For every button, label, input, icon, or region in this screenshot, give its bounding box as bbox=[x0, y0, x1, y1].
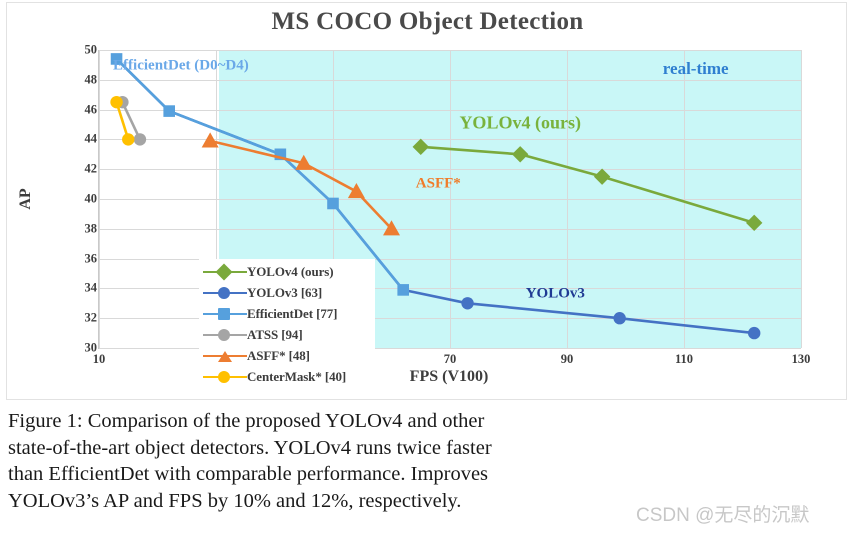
x-axis-label: FPS (V100) bbox=[98, 368, 800, 386]
x-tick-label: 70 bbox=[427, 352, 473, 367]
legend-item-efficientdet-77-[interactable]: EfficientDet [77] bbox=[199, 303, 375, 324]
legend-marker-circle-icon bbox=[203, 328, 247, 342]
legend-label: YOLOv4 (ours) bbox=[247, 264, 333, 280]
y-tick-label: 44 bbox=[57, 132, 97, 147]
plot-area: EfficientDet (D0~D4)real-timeYOLOv4 (our… bbox=[98, 50, 801, 349]
legend-marker-triangle-icon bbox=[203, 349, 247, 363]
data-point-marker bbox=[348, 183, 365, 198]
caption-line: Figure 1: Comparison of the proposed YOL… bbox=[8, 408, 848, 435]
y-axis-label: AP bbox=[17, 188, 35, 209]
legend-label: EfficientDet [77] bbox=[247, 306, 337, 322]
legend-item-asff-48-[interactable]: ASFF* [48] bbox=[199, 345, 375, 366]
figure-container: MS COCO Object Detection EfficientDet (D… bbox=[0, 0, 855, 404]
series-yolov4-ours- bbox=[413, 139, 763, 231]
legend-marker-circle-icon bbox=[203, 286, 247, 300]
y-tick-label: 38 bbox=[57, 221, 97, 236]
data-point-marker bbox=[110, 96, 122, 108]
data-point-marker bbox=[594, 168, 610, 184]
chart-annotation: YOLOv3 bbox=[526, 286, 585, 303]
chart-title: MS COCO Object Detection bbox=[0, 8, 855, 36]
legend-marker-square-icon bbox=[203, 307, 247, 321]
legend-label: ASFF* [48] bbox=[247, 348, 310, 364]
figure-caption: Figure 1: Comparison of the proposed YOL… bbox=[8, 408, 848, 514]
data-point-marker bbox=[327, 198, 339, 210]
x-tick-label: 110 bbox=[661, 352, 707, 367]
chart-annotation: ASFF* bbox=[416, 176, 461, 193]
caption-line: state-of-the-art object detectors. YOLOv… bbox=[8, 435, 848, 462]
chart-annotation: real-time bbox=[663, 59, 729, 79]
data-point-marker bbox=[122, 133, 134, 145]
data-point-marker bbox=[163, 105, 175, 117]
watermark: CSDN @无尽的沉默 bbox=[636, 500, 809, 527]
x-tick-label: 130 bbox=[778, 352, 824, 367]
data-point-marker bbox=[413, 139, 429, 155]
legend-label: ATSS [94] bbox=[247, 327, 303, 343]
legend-marker-diamond-icon bbox=[203, 265, 247, 279]
legend-item-atss-94-[interactable]: ATSS [94] bbox=[199, 324, 375, 345]
y-tick-label: 34 bbox=[57, 281, 97, 296]
data-point-marker bbox=[202, 132, 219, 147]
series-asff-48- bbox=[202, 132, 400, 235]
y-tick-label: 50 bbox=[57, 43, 97, 58]
data-point-marker bbox=[461, 297, 473, 309]
x-tick-label: 10 bbox=[76, 352, 122, 367]
y-tick-label: 46 bbox=[57, 102, 97, 117]
legend-label: YOLOv3 [63] bbox=[247, 285, 322, 301]
figure-page: MS COCO Object Detection EfficientDet (D… bbox=[0, 0, 855, 533]
data-point-marker bbox=[397, 284, 409, 296]
y-tick-label: 32 bbox=[57, 311, 97, 326]
gridline-vertical bbox=[801, 50, 802, 348]
data-point-marker bbox=[134, 133, 146, 145]
data-point-marker bbox=[746, 215, 762, 231]
series-line bbox=[117, 59, 404, 290]
y-tick-label: 40 bbox=[57, 192, 97, 207]
series-line bbox=[210, 141, 391, 229]
legend-item-yolov4-ours-[interactable]: YOLOv4 (ours) bbox=[199, 261, 375, 282]
y-tick-label: 48 bbox=[57, 72, 97, 87]
caption-line: than EfficientDet with comparable perfor… bbox=[8, 461, 848, 488]
legend-item-yolov3-63-[interactable]: YOLOv3 [63] bbox=[199, 282, 375, 303]
chart-annotation: EfficientDet (D0~D4) bbox=[113, 58, 249, 75]
chart-annotation: YOLOv4 (ours) bbox=[459, 113, 581, 134]
x-tick-label: 90 bbox=[544, 352, 590, 367]
data-point-marker bbox=[512, 146, 528, 162]
y-tick-label: 36 bbox=[57, 251, 97, 266]
data-point-marker bbox=[613, 312, 625, 324]
y-tick-label: 42 bbox=[57, 162, 97, 177]
data-point-marker bbox=[748, 327, 760, 339]
series-line bbox=[421, 147, 754, 223]
